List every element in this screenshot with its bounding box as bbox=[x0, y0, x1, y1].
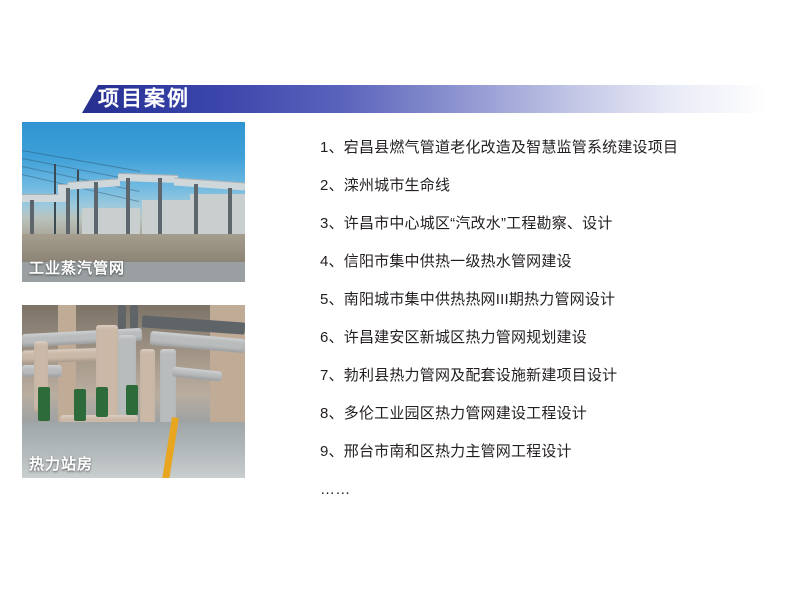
list-item: 9、邢台市南和区热力主管网工程设计 bbox=[320, 432, 760, 470]
project-list: 1、宕昌县燃气管道老化改造及智慧监管系统建设项目 2、滦州城市生命线 3、许昌市… bbox=[320, 128, 760, 508]
photo-caption: 热力站房 bbox=[29, 457, 93, 472]
list-item: 1、宕昌县燃气管道老化改造及智慧监管系统建设项目 bbox=[320, 128, 760, 166]
photo-caption: 工业蒸汽管网 bbox=[29, 261, 125, 276]
page-title: 项目案例 bbox=[98, 89, 190, 110]
list-item: 8、多伦工业园区热力管网建设工程设计 bbox=[320, 394, 760, 432]
photo-heating-station-room: 热力站房 bbox=[22, 305, 245, 478]
list-item-ellipsis: …… bbox=[320, 470, 760, 508]
slide-canvas: 项目案例 工业蒸汽管网 bbox=[0, 0, 800, 600]
list-item: 3、许昌市中心城区“汽改水”工程勘察、设计 bbox=[320, 204, 760, 242]
list-item: 7、勃利县热力管网及配套设施新建项目设计 bbox=[320, 356, 760, 394]
list-item: 5、南阳城市集中供热热网III期热力管网设计 bbox=[320, 280, 760, 318]
photo-artwork bbox=[22, 305, 245, 478]
list-item: 4、信阳市集中供热一级热水管网建设 bbox=[320, 242, 760, 280]
section-title-banner: 项目案例 bbox=[82, 85, 766, 113]
list-item: 6、许昌建安区新城区热力管网规划建设 bbox=[320, 318, 760, 356]
photo-artwork bbox=[22, 122, 245, 282]
photo-industrial-steam-pipeline: 工业蒸汽管网 bbox=[22, 122, 245, 282]
list-item: 2、滦州城市生命线 bbox=[320, 166, 760, 204]
